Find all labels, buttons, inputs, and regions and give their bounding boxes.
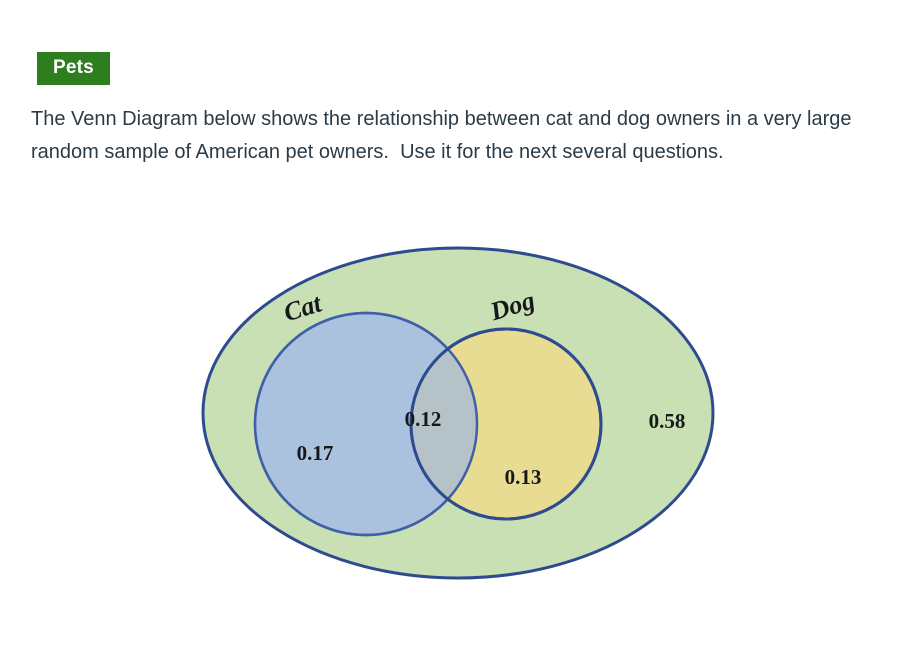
page-title-badge: Pets — [37, 52, 110, 85]
venn-diagram: Cat Dog 0.17 0.12 0.13 0.58 — [0, 0, 908, 653]
venn-set-dog-outline — [411, 329, 601, 519]
page-root: Pets The Venn Diagram below shows the re… — [0, 0, 908, 653]
venn-value-cat-only: 0.17 — [297, 441, 334, 465]
venn-value-cat-and-dog: 0.12 — [405, 407, 442, 431]
question-prompt-text: The Venn Diagram below shows the relatio… — [31, 103, 887, 169]
venn-label-dog: Dog — [486, 285, 538, 326]
venn-set-dog-circle — [411, 329, 601, 519]
venn-universe-ellipse — [203, 248, 713, 578]
venn-label-cat: Cat — [280, 288, 325, 327]
venn-intersection-region — [411, 329, 601, 519]
venn-value-neither: 0.58 — [649, 409, 686, 433]
venn-set-cat-outline — [255, 313, 477, 535]
venn-value-dog-only: 0.13 — [505, 465, 542, 489]
venn-diagram-svg: Cat Dog 0.17 0.12 0.13 0.58 — [0, 0, 908, 653]
venn-set-cat-circle — [255, 313, 477, 535]
page-title-row: Pets — [37, 52, 110, 85]
